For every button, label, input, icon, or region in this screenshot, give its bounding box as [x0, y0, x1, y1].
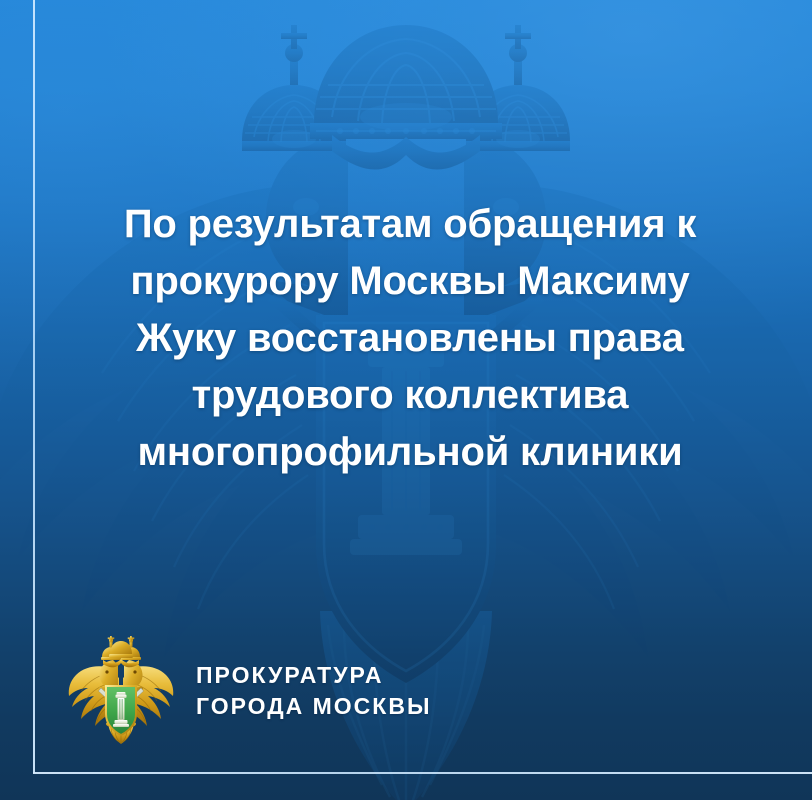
frame-vertical-rule [33, 0, 35, 773]
headline-line-4: трудового коллектива [60, 367, 760, 424]
brand-text: ПРОКУРАТУРА ГОРОДА МОСКВЫ [196, 660, 431, 722]
headline-line-5: многопрофильной клиники [60, 424, 760, 481]
headline-line-1: По результатам обращения к [60, 196, 760, 253]
brand-lockup: ПРОКУРАТУРА ГОРОДА МОСКВЫ [68, 636, 431, 746]
frame-horizontal-rule [33, 772, 812, 774]
headline: По результатам обращения к прокурору Мос… [60, 196, 760, 481]
brand-line-2: ГОРОДА МОСКВЫ [196, 691, 431, 722]
headline-line-2: прокурору Москвы Максиму [60, 253, 760, 310]
prosecutor-emblem-icon [68, 636, 174, 746]
headline-line-3: Жуку восстановлены права [60, 310, 760, 367]
poster-canvas: По результатам обращения к прокурору Мос… [0, 0, 812, 800]
brand-line-1: ПРОКУРАТУРА [196, 660, 431, 691]
